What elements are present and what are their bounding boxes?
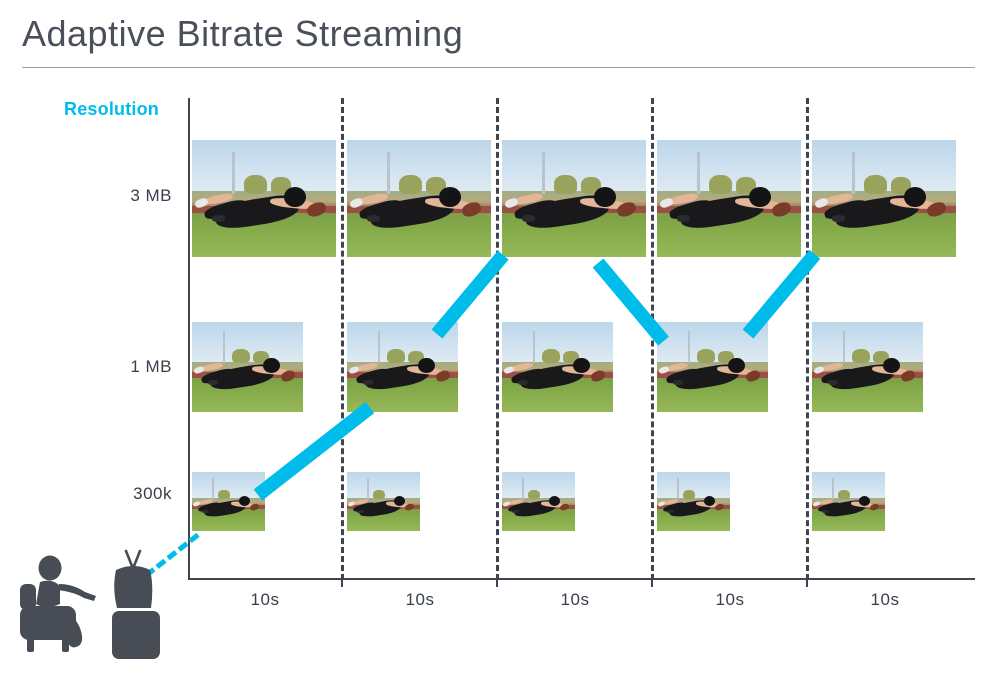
thumbnail-1mb-segment-5[interactable] <box>812 322 923 412</box>
y-axis-label-3mb-wrap: 3 MB <box>0 186 172 206</box>
y-axis-label-3mb: 3 MB <box>0 186 172 206</box>
thumbnail-3mb-segment-3[interactable] <box>502 140 646 257</box>
segment-divider-1 <box>341 98 344 580</box>
thumbnail-300k-segment-4[interactable] <box>657 472 730 531</box>
segment-divider-2 <box>496 98 499 580</box>
x-axis-label-1: 10s <box>220 590 310 610</box>
thumbnail-3mb-segment-5[interactable] <box>812 140 956 257</box>
thumbnail-3mb-segment-1[interactable] <box>192 140 336 257</box>
thumbnail-3mb-segment-2[interactable] <box>347 140 491 257</box>
segment-divider-4 <box>806 98 809 580</box>
y-axis-label-1mb-wrap: 1 MB <box>0 357 172 377</box>
x-axis-label-3: 10s <box>530 590 620 610</box>
thumbnail-300k-segment-2[interactable] <box>347 472 420 531</box>
y-axis-title: Resolution <box>64 99 159 120</box>
y-axis-label-300k: 300k <box>0 484 172 504</box>
x-axis-label-5: 10s <box>840 590 930 610</box>
thumbnail-300k-segment-3[interactable] <box>502 472 575 531</box>
thumbnail-1mb-segment-1[interactable] <box>192 322 303 412</box>
y-axis-line <box>188 98 190 580</box>
viewer-illustration <box>14 548 184 668</box>
x-axis-tick-2 <box>496 578 498 587</box>
y-axis-label-300k-wrap: 300k <box>0 484 172 504</box>
thumbnail-300k-segment-1[interactable] <box>192 472 265 531</box>
thumbnail-1mb-segment-3[interactable] <box>502 322 613 412</box>
x-axis-tick-4 <box>806 578 808 587</box>
thumbnail-3mb-segment-4[interactable] <box>657 140 801 257</box>
x-axis-tick-1 <box>341 578 343 587</box>
y-axis-label-1mb: 1 MB <box>0 357 172 377</box>
thumbnail-300k-segment-5[interactable] <box>812 472 885 531</box>
person-watching-tv-icon <box>14 548 184 668</box>
x-axis-line <box>188 578 975 580</box>
x-axis-label-4: 10s <box>685 590 775 610</box>
x-axis-tick-3 <box>651 578 653 587</box>
x-axis-label-2: 10s <box>375 590 465 610</box>
